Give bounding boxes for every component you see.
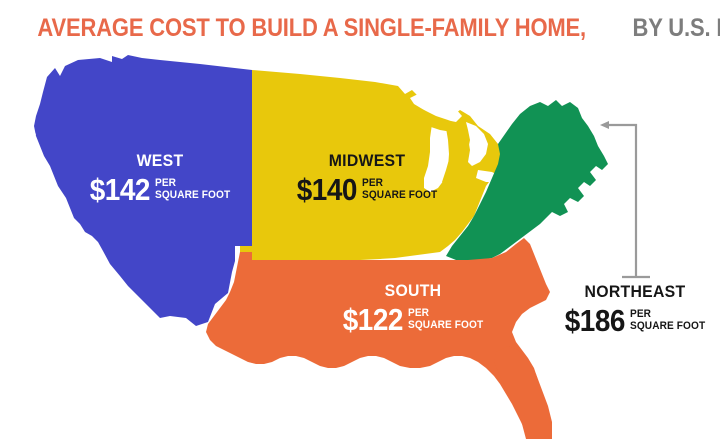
price-value-south: $122 <box>343 304 403 335</box>
florida-peninsula <box>494 346 552 439</box>
price-value-northeast: $186 <box>565 305 625 336</box>
page-title: AVERAGE COST TO BUILD A SINGLE-FAMILY HO… <box>0 14 720 43</box>
price-row-south: $122 PER SQUARE FOOT <box>318 304 508 335</box>
region-label-northeast: NORTHEAST <box>558 283 712 300</box>
region-label-midwest: MIDWEST <box>279 152 456 169</box>
us-region-map <box>0 46 720 439</box>
infographic-canvas: AVERAGE COST TO BUILD A SINGLE-FAMILY HO… <box>0 0 720 439</box>
price-value-west: $142 <box>90 174 150 205</box>
price-value-midwest: $140 <box>297 174 357 205</box>
unit-label-west: PER SQUARE FOOT <box>155 178 230 201</box>
region-label-west: WEST <box>67 152 253 169</box>
unit-label-midwest: PER SQUARE FOOT <box>362 178 437 201</box>
unit-line-1: PER <box>155 178 230 190</box>
price-row-northeast: $186 PER SQUARE FOOT <box>552 305 718 336</box>
callout-west[interactable]: WEST $142 PER SQUARE FOOT <box>60 152 260 205</box>
unit-line-1: PER <box>362 178 437 190</box>
map-svg <box>0 46 720 439</box>
callout-northeast[interactable]: NORTHEAST $186 PER SQUARE FOOT <box>552 283 718 336</box>
title-primary: AVERAGE COST TO BUILD A SINGLE-FAMILY HO… <box>37 14 586 43</box>
callout-south[interactable]: SOUTH $122 PER SQUARE FOOT <box>318 282 508 335</box>
unit-line-2: SQUARE FOOT <box>408 320 483 332</box>
unit-label-south: PER SQUARE FOOT <box>408 308 483 331</box>
price-row-midwest: $140 PER SQUARE FOOT <box>272 174 462 205</box>
northeast-leader-line <box>607 125 650 277</box>
title-secondary: BY U.S. REGION <box>633 14 720 43</box>
unit-line-2: SQUARE FOOT <box>630 321 705 333</box>
callout-midwest[interactable]: MIDWEST $140 PER SQUARE FOOT <box>272 152 462 205</box>
price-row-west: $142 PER SQUARE FOOT <box>60 174 260 205</box>
unit-label-northeast: PER SQUARE FOOT <box>630 309 705 332</box>
region-south[interactable] <box>206 238 552 439</box>
unit-line-2: SQUARE FOOT <box>155 190 230 202</box>
region-label-south: SOUTH <box>325 282 502 299</box>
unit-line-1: PER <box>630 309 705 321</box>
unit-line-1: PER <box>408 308 483 320</box>
leader-arrowhead-icon <box>600 121 609 129</box>
unit-line-2: SQUARE FOOT <box>362 190 437 202</box>
